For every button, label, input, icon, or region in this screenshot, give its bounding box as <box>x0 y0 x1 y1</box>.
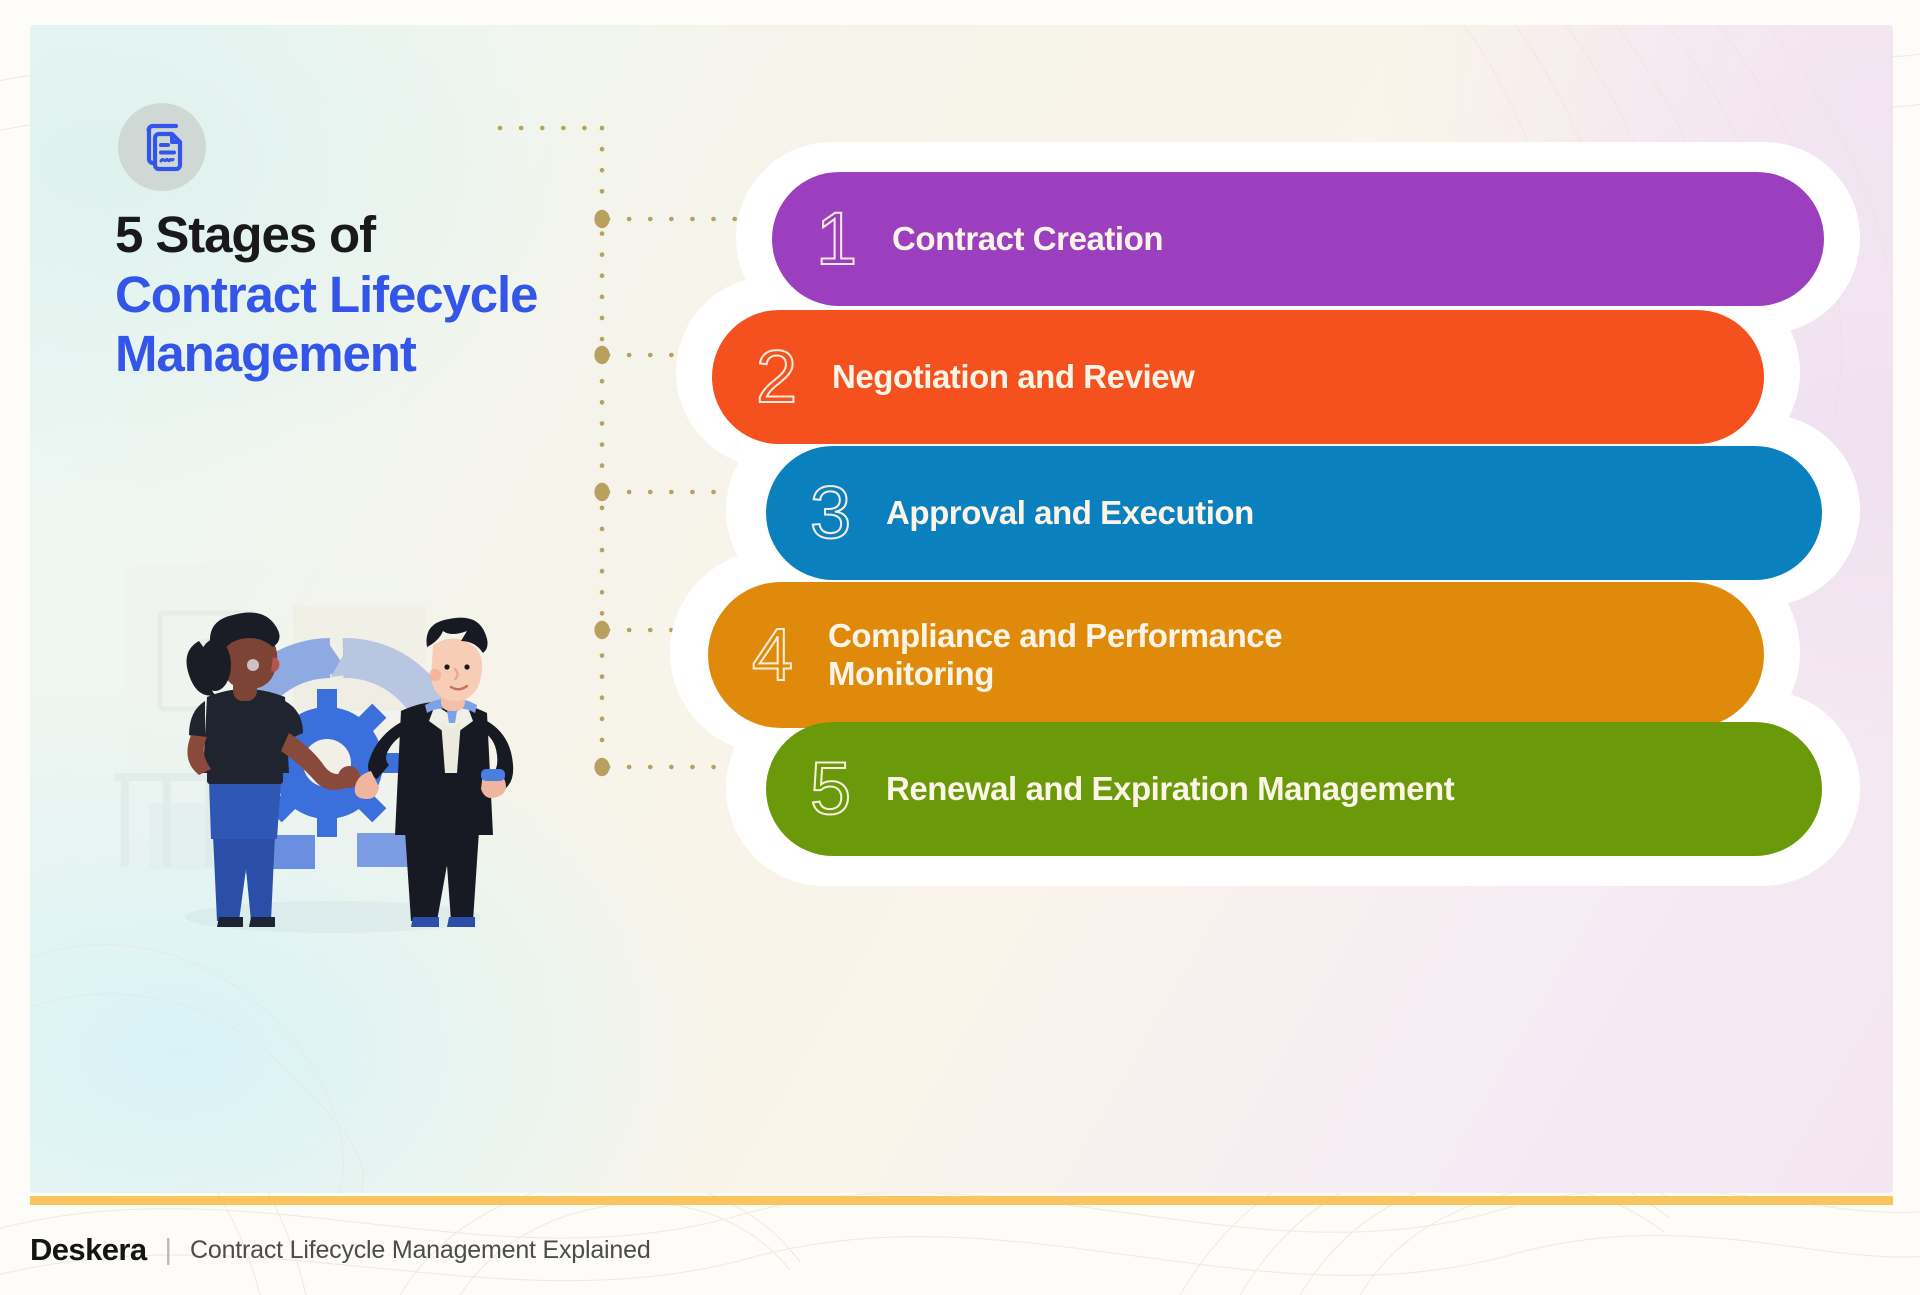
page-title: 5 Stages of Contract Lifecycle Managemen… <box>115 205 655 384</box>
footer: Deskera | Contract Lifecycle Management … <box>30 1220 1230 1280</box>
stage-card-list: 1 Contract Creation 2 Negotiation and Re… <box>670 120 1880 910</box>
stage-label-3: Approval and Execution <box>886 494 1254 532</box>
page-title-line2a: Contract Lifecycle <box>115 265 655 325</box>
stage-label-5: Renewal and Expiration Management <box>886 770 1454 808</box>
two-people-gear-cycle-illustration <box>105 545 555 945</box>
stage-number-5: 5 <box>810 752 880 826</box>
stage-label-1: Contract Creation <box>892 220 1163 258</box>
main-panel: 5 Stages of Contract Lifecycle Managemen… <box>30 25 1893 1193</box>
stage-number-1: 1 <box>816 202 886 276</box>
stage-label-2: Negotiation and Review <box>832 358 1194 396</box>
page-title-line1: 5 Stages of <box>115 205 655 265</box>
stage-card-1[interactable]: 1 Contract Creation <box>772 172 1824 306</box>
footer-tagline: Contract Lifecycle Management Explained <box>190 1236 651 1265</box>
stage-card-3[interactable]: 3 Approval and Execution <box>766 446 1822 580</box>
footer-separator: | <box>164 1234 172 1267</box>
stage-number-2: 2 <box>756 340 826 414</box>
footer-accent-bar <box>30 1196 1893 1205</box>
stage-card-5[interactable]: 5 Renewal and Expiration Management <box>766 722 1822 856</box>
infographic-root: 5 Stages of Contract Lifecycle Managemen… <box>0 0 1920 1295</box>
stage-number-4: 4 <box>752 618 822 692</box>
stage-card-4[interactable]: 4 Compliance and Performance Monitoring <box>708 582 1764 728</box>
stage-card-2[interactable]: 2 Negotiation and Review <box>712 310 1764 444</box>
contract-signature-icon <box>118 103 206 191</box>
page-title-line2b: Management <box>115 324 655 384</box>
brand-logo: Deskera <box>30 1232 146 1268</box>
stage-number-3: 3 <box>810 476 880 550</box>
stage-label-4: Compliance and Performance Monitoring <box>828 617 1348 692</box>
